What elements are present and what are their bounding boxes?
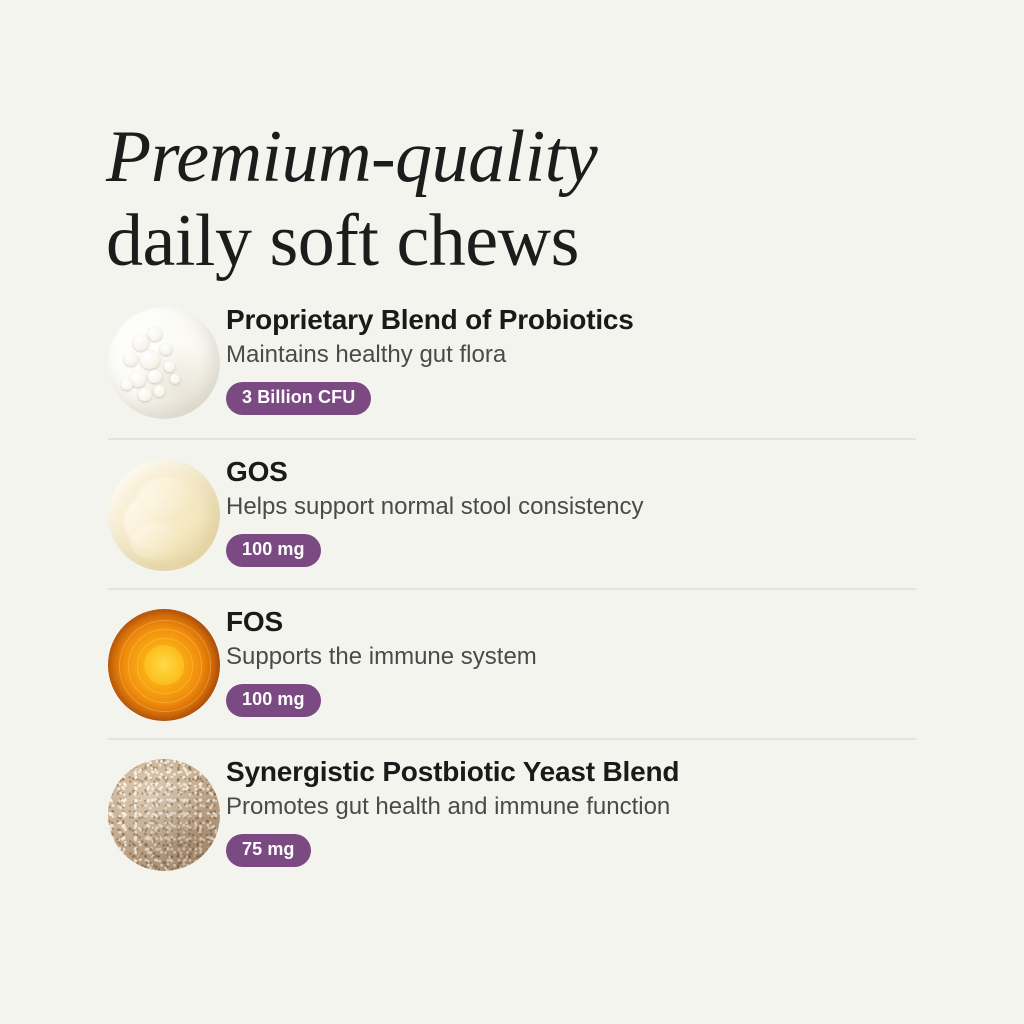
- page-title-line-2: daily soft chews: [106, 204, 906, 278]
- ingredient-text-block: Synergistic Postbiotic Yeast Blend Promo…: [226, 740, 916, 867]
- list-item: FOS Supports the immune system 100 mg: [108, 588, 916, 738]
- fos-golden-beet-slice-image: [108, 609, 220, 721]
- ingredient-amount-badge: 100 mg: [226, 534, 321, 567]
- ingredient-thumbnail-wrap: [108, 440, 226, 590]
- ingredient-description: Helps support normal stool consistency: [226, 493, 916, 522]
- list-item: Synergistic Postbiotic Yeast Blend Promo…: [108, 738, 916, 888]
- ingredient-description: Supports the immune system: [226, 643, 916, 672]
- ingredient-name: GOS: [226, 455, 916, 488]
- ingredient-description: Promotes gut health and immune function: [226, 793, 916, 822]
- ingredient-amount-badge: 3 Billion CFU: [226, 382, 371, 415]
- list-item: GOS Helps support normal stool consisten…: [108, 438, 916, 588]
- ingredient-name: FOS: [226, 605, 916, 638]
- ingredient-text-block: FOS Supports the immune system 100 mg: [226, 590, 916, 717]
- page-title: Premium-quality daily soft chews: [106, 120, 906, 278]
- ingredient-amount-badge: 75 mg: [226, 834, 311, 867]
- ingredient-description: Maintains healthy gut flora: [226, 341, 916, 370]
- ingredient-amount-badge: 100 mg: [226, 684, 321, 717]
- probiotic-cream-swirl-image: [108, 307, 220, 419]
- ingredient-thumbnail-wrap: [108, 740, 226, 890]
- ingredient-thumbnail-wrap: [108, 590, 226, 740]
- ingredient-text-block: GOS Helps support normal stool consisten…: [226, 440, 916, 567]
- ingredient-name: Proprietary Blend of Probiotics: [226, 303, 916, 336]
- ingredient-name: Synergistic Postbiotic Yeast Blend: [226, 755, 916, 788]
- ingredient-thumbnail-wrap: [108, 288, 226, 438]
- gos-cream-swirl-image: [108, 459, 220, 571]
- ingredient-benefits-panel: Premium-quality daily soft chews: [0, 0, 1024, 1024]
- page-title-line-1: Premium-quality: [106, 120, 906, 194]
- yeast-powder-granules-image: [108, 759, 220, 871]
- ingredient-list: Proprietary Blend of Probiotics Maintain…: [108, 288, 916, 888]
- list-item: Proprietary Blend of Probiotics Maintain…: [108, 288, 916, 438]
- ingredient-text-block: Proprietary Blend of Probiotics Maintain…: [226, 288, 916, 415]
